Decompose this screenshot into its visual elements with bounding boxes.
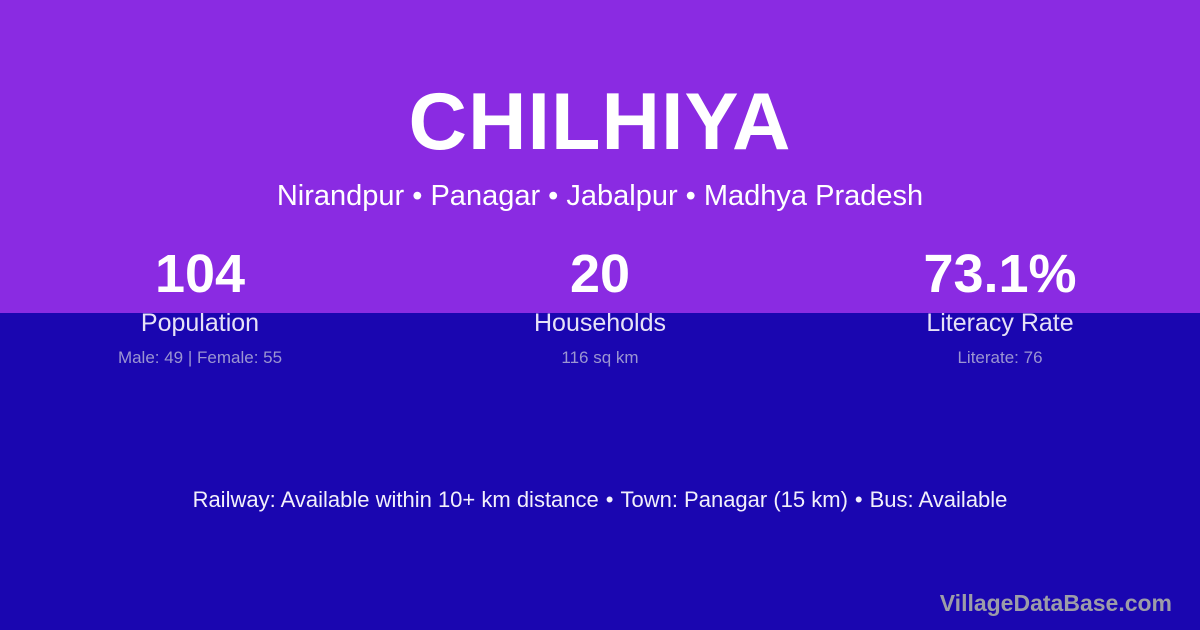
stat-households: 20 Households 116 sq km xyxy=(400,243,800,369)
amenity-separator-1: • xyxy=(599,487,621,512)
stat-detail-literacy-rate: Literate: 76 xyxy=(800,347,1200,369)
amenities-line: Railway: Available within 10+ km distanc… xyxy=(0,485,1200,515)
stat-value-population: 104 xyxy=(0,243,400,305)
site-branding: VillageDataBase.com xyxy=(940,588,1172,618)
stats-row: 104 Population Male: 49 | Female: 55 20 … xyxy=(0,243,1200,369)
stat-value-households: 20 xyxy=(400,243,800,305)
amenity-bus: Bus: Available xyxy=(870,487,1008,512)
amenity-railway: Railway: Available within 10+ km distanc… xyxy=(193,487,599,512)
stat-literacy-rate: 73.1% Literacy Rate Literate: 76 xyxy=(800,243,1200,369)
stat-population: 104 Population Male: 49 | Female: 55 xyxy=(0,243,400,369)
village-info-card: CHILHIYA Nirandpur • Panagar • Jabalpur … xyxy=(0,0,1200,630)
stat-label-households: Households xyxy=(400,308,800,338)
page-title: CHILHIYA xyxy=(0,0,1200,163)
amenity-separator-2: • xyxy=(848,487,870,512)
stat-label-population: Population xyxy=(0,308,400,338)
stat-detail-population: Male: 49 | Female: 55 xyxy=(0,347,400,369)
amenity-town: Town: Panagar (15 km) xyxy=(620,487,847,512)
card-header: CHILHIYA Nirandpur • Panagar • Jabalpur … xyxy=(0,0,1200,211)
breadcrumb: Nirandpur • Panagar • Jabalpur • Madhya … xyxy=(0,163,1200,211)
stat-value-literacy-rate: 73.1% xyxy=(800,243,1200,305)
stat-label-literacy-rate: Literacy Rate xyxy=(800,308,1200,338)
stat-detail-households: 116 sq km xyxy=(400,347,800,369)
